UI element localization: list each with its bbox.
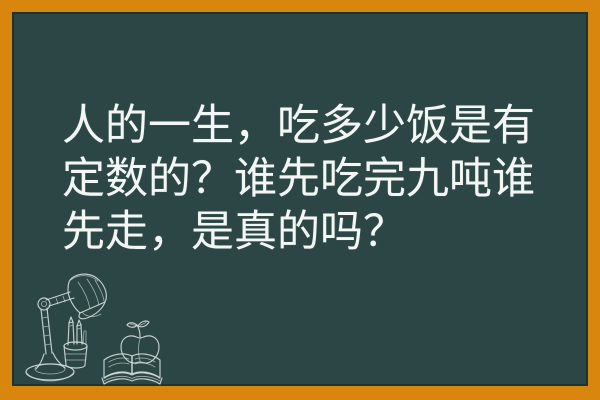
page-title: 人的一生，吃多少饭是有定数的？谁先吃完九吨谁先走，是真的吗？	[62, 100, 554, 259]
chalk-illustration	[20, 268, 192, 386]
chalkboard-panel: 人的一生，吃多少饭是有定数的？谁先吃完九吨谁先走，是真的吗？	[12, 12, 588, 386]
pencil-cup-icon	[64, 317, 87, 368]
chalk-illustration-svg	[20, 268, 192, 386]
open-book-icon	[102, 354, 162, 384]
poster-root: 人的一生，吃多少饭是有定数的？谁先吃完九吨谁先走，是真的吗？	[0, 0, 600, 400]
